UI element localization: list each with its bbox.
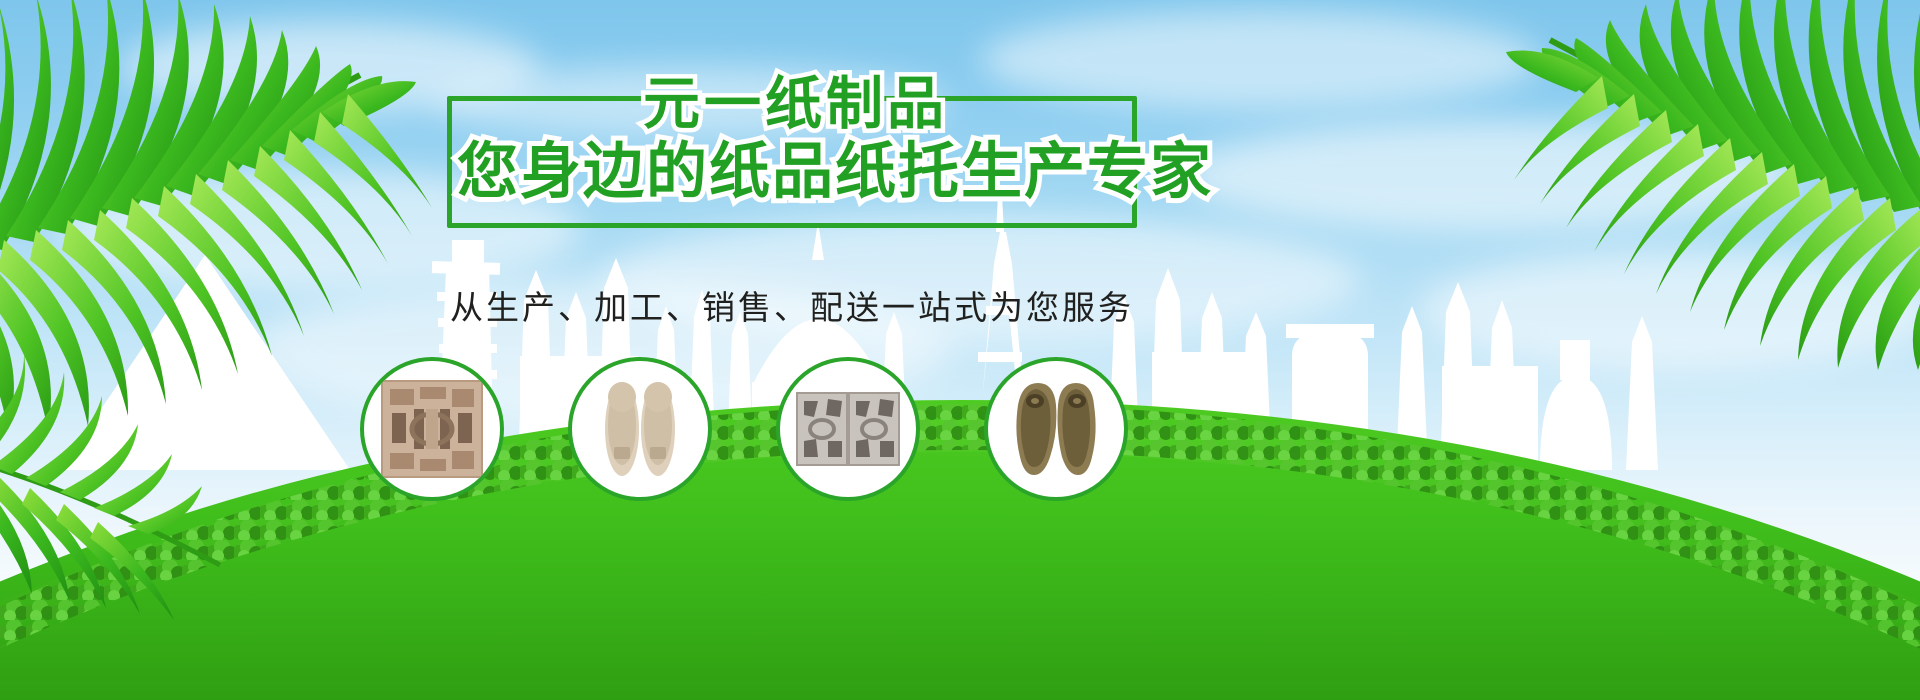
far-right-landmarks-silhouette	[1396, 282, 1658, 470]
palm-frond-left-lower	[0, 330, 270, 630]
product-thumbnail-row	[0, 355, 1920, 515]
cloud	[1420, 250, 1920, 370]
product-circle-3[interactable]	[776, 357, 920, 501]
molded-pulp-tray-square-icon	[380, 379, 484, 479]
molded-pulp-tray-double-icon	[796, 379, 900, 479]
banner-subtitle: 从生产、加工、销售、配送一站式为您服务	[447, 286, 1137, 330]
hill-body	[0, 400, 1920, 700]
hill-shrub-band	[0, 404, 1920, 658]
green-hill	[0, 340, 1920, 700]
headline-frame-block: 元一纸制品 您身边的纸品纸托生产专家	[447, 96, 1137, 228]
palm-leaflets-right	[1506, 0, 1920, 370]
product-circle-1[interactable]	[360, 357, 504, 501]
molded-pulp-shoe-insert-pair-icon	[588, 379, 692, 479]
headline-line-2: 您身边的纸品纸托生产专家	[457, 138, 1137, 206]
product-circle-4[interactable]	[984, 357, 1128, 501]
cloud	[1180, 120, 1800, 230]
palm-leaflets-lower	[0, 338, 220, 620]
palm-frond-right	[1300, 0, 1920, 370]
hill-highlight	[0, 420, 1920, 640]
molded-pulp-shoe-tree-pair-icon	[1004, 379, 1108, 479]
product-circle-2[interactable]	[568, 357, 712, 501]
hero-banner: 元一纸制品 您身边的纸品纸托生产专家 从生产、加工、销售、配送一站式为您服务	[0, 0, 1920, 700]
headline-line-1: 元一纸制品	[643, 74, 1143, 134]
palm-leaflets-upper	[0, 0, 432, 430]
pyramid-silhouette	[60, 255, 350, 470]
arc-de-triomphe-silhouette	[1286, 324, 1374, 470]
